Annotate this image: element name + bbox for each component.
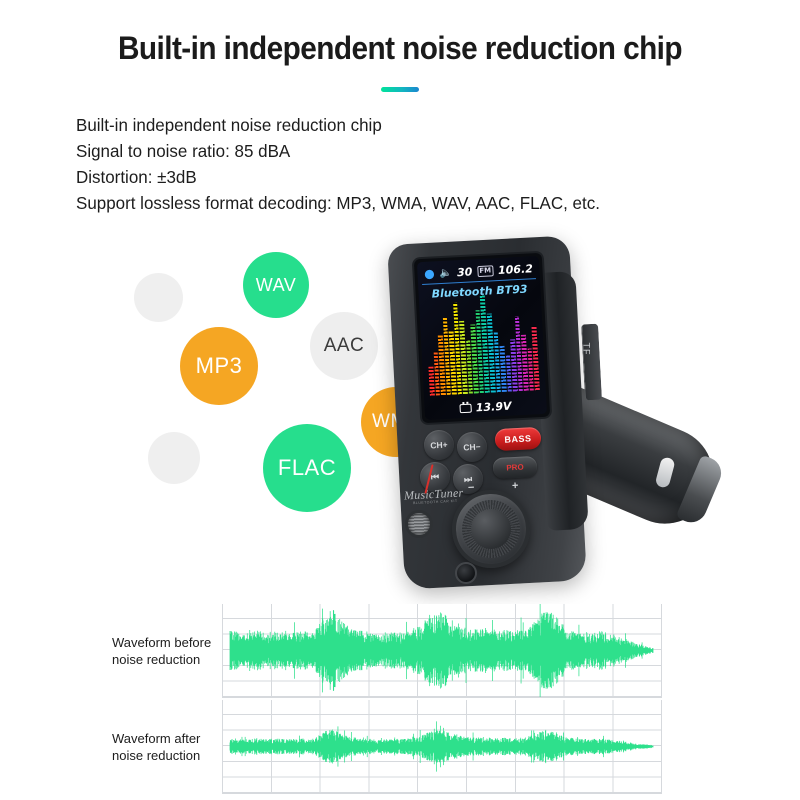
voltage-value: 13.9V bbox=[475, 400, 511, 415]
bluetooth-icon: ● bbox=[424, 266, 435, 281]
volume-minus-label: − bbox=[468, 482, 475, 494]
waveform-row-before: Waveform before noise reduction bbox=[0, 604, 800, 698]
title-divider bbox=[381, 87, 419, 92]
spec-line-3: Distortion: ±3dB bbox=[76, 164, 745, 190]
waveform-after-label-line1: Waveform after bbox=[112, 730, 224, 747]
waveform-before-graph bbox=[222, 604, 661, 697]
volume-plus-label: + bbox=[512, 480, 519, 492]
spectrum-analyzer bbox=[425, 286, 540, 396]
battery-icon bbox=[460, 404, 472, 414]
volume-value: 30 bbox=[457, 265, 473, 279]
spec-line-1: Built-in independent noise reduction chi… bbox=[76, 112, 745, 138]
speaker-icon: 🔈 bbox=[439, 267, 452, 279]
spec-line-4: Support lossless format decoding: MP3, W… bbox=[76, 190, 745, 216]
fm-icon: FM bbox=[477, 265, 493, 277]
codec-bubble-wav: WAV bbox=[243, 252, 309, 318]
pro-button[interactable]: PRO bbox=[492, 456, 537, 479]
screen-bezel: ● 🔈 30 FM 106.2 Bluetooth BT93 13.9V bbox=[412, 251, 553, 426]
waveform-before-label-line2: noise reduction bbox=[112, 651, 224, 668]
bass-button[interactable]: BASS bbox=[494, 427, 541, 451]
bluetooth-fm-transmitter-device: TF ● 🔈 30 FM 106.2 Bluetooth BT93 13.9V bbox=[380, 238, 760, 598]
spec-line-2: Signal to noise ratio: 85 dBA bbox=[76, 138, 745, 164]
device-screen: ● 🔈 30 FM 106.2 Bluetooth BT93 13.9V bbox=[417, 256, 547, 420]
charger-tip bbox=[676, 454, 727, 527]
decorative-bubble-2 bbox=[148, 432, 200, 484]
waveform-row-after: Waveform after noise reduction bbox=[0, 700, 800, 794]
codec-bubble-mp3: MP3 bbox=[180, 327, 258, 405]
waveform-after-graph bbox=[222, 700, 661, 793]
fm-frequency: 106.2 bbox=[498, 262, 533, 277]
codec-bubble-aac: AAC bbox=[310, 312, 378, 380]
waveform-trace bbox=[230, 721, 653, 771]
decorative-bubble-1 bbox=[134, 273, 183, 322]
waveform-before-label-line1: Waveform before bbox=[112, 634, 224, 651]
product-feature-page: Built-in independent noise reduction chi… bbox=[0, 0, 800, 800]
spec-list: Built-in independent noise reduction chi… bbox=[76, 112, 766, 216]
tf-card-slot[interactable] bbox=[581, 324, 602, 401]
waveform-before-label: Waveform before noise reduction bbox=[112, 634, 224, 668]
waveform-before-panel bbox=[222, 604, 662, 698]
tf-slot-label: TF bbox=[582, 343, 592, 356]
voltage-readout: 13.9V bbox=[424, 398, 547, 417]
codec-bubble-flac: FLAC bbox=[263, 424, 351, 512]
waveform-after-panel bbox=[222, 700, 662, 794]
waveform-trace bbox=[230, 604, 653, 697]
page-title: Built-in independent noise reduction chi… bbox=[28, 30, 772, 67]
charger-contact-pin bbox=[655, 456, 676, 489]
waveform-after-label-line2: noise reduction bbox=[112, 747, 224, 764]
waveform-after-label: Waveform after noise reduction bbox=[112, 730, 224, 764]
